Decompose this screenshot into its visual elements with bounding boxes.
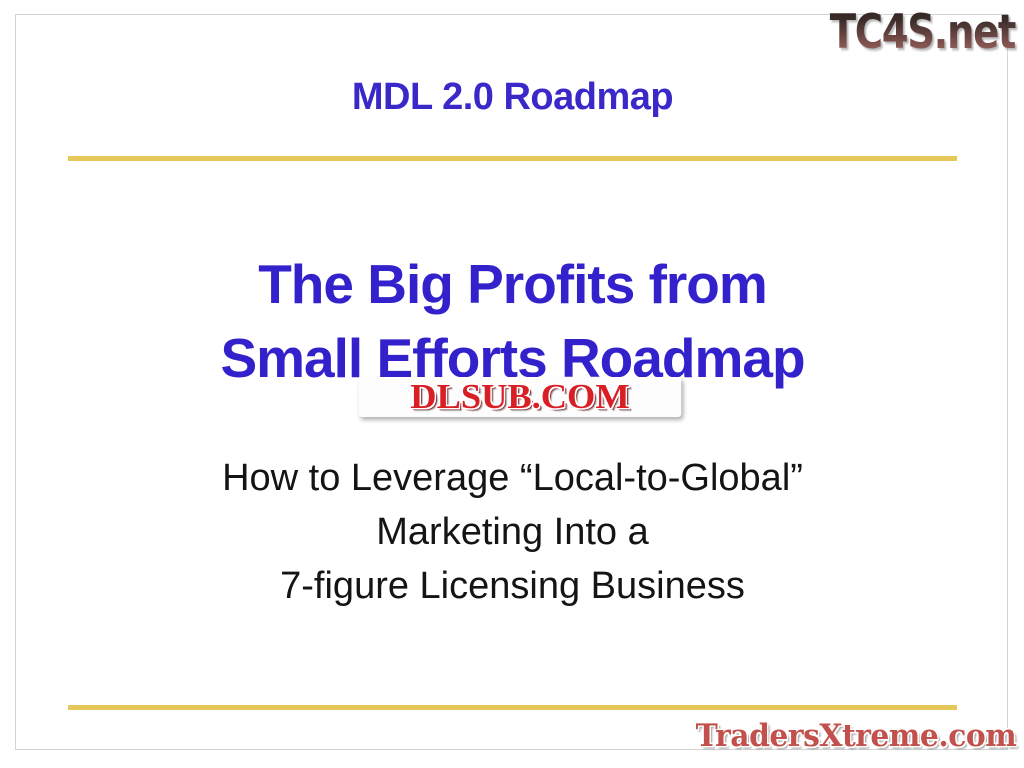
divider-bottom [68,705,957,710]
subtitle-block: How to Leverage “Local-to-Global” Market… [16,452,1009,614]
subtitle-line-3: 7-figure Licensing Business [16,560,1009,614]
headline-block: The Big Profits from Small Efforts Roadm… [16,247,1009,396]
divider-top [68,156,957,161]
headline-line-1: The Big Profits from [16,247,1009,321]
page-title: MDL 2.0 Roadmap [16,77,1009,119]
subtitle-line-2: Marketing Into a [16,506,1009,560]
subtitle-line-1: How to Leverage “Local-to-Global” [16,452,1009,506]
watermark-tradersxtreme: TradersXtreme.com [690,717,1022,756]
watermark-tc4s: TC4S.net [822,2,1022,60]
watermark-dlsub: DLSUB.COM [359,377,681,417]
slide-frame: MDL 2.0 Roadmap The Big Profits from Sma… [15,14,1008,750]
